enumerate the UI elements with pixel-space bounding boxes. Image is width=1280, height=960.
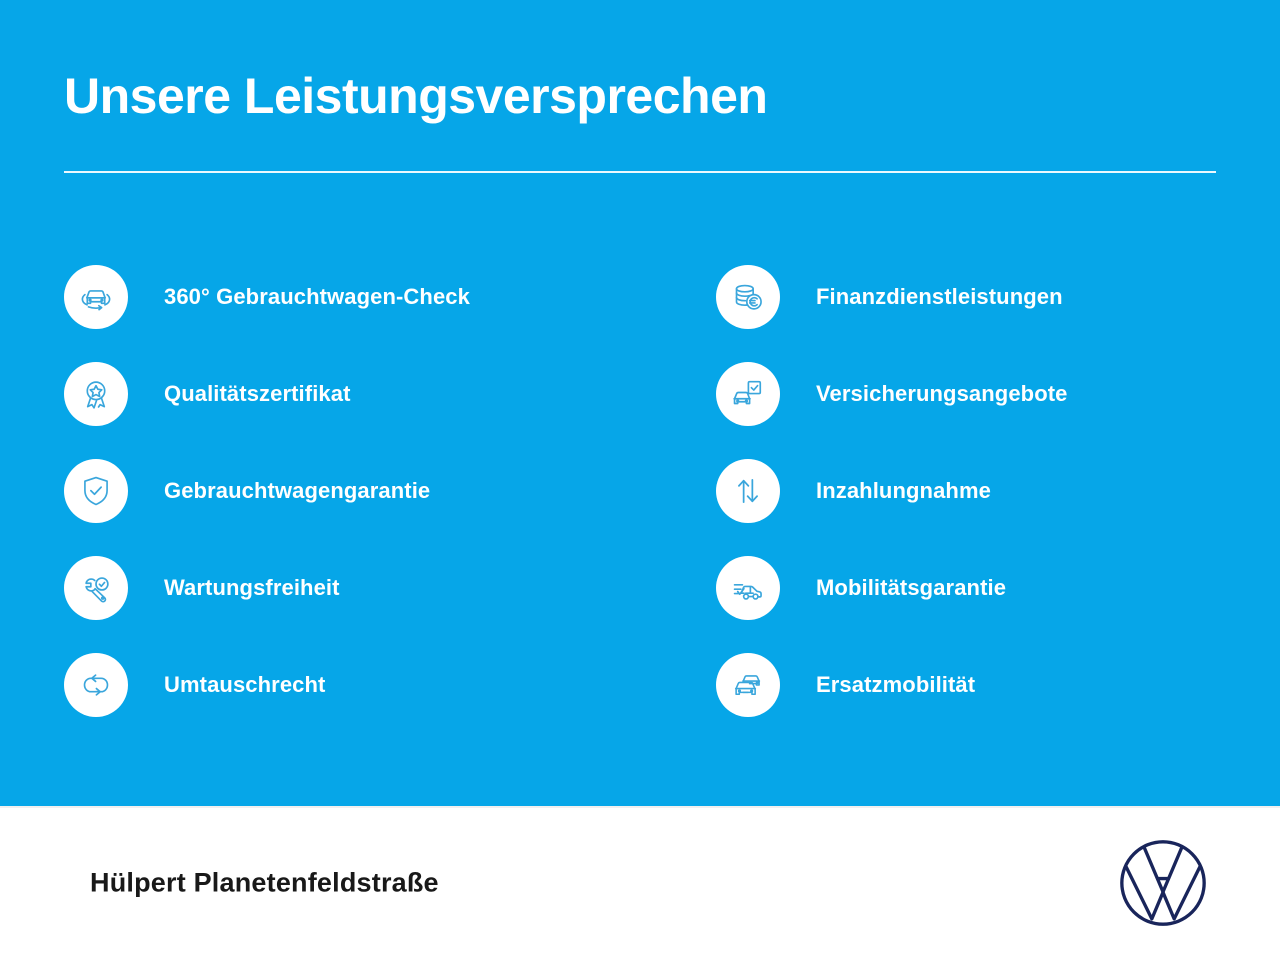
arrows-up-down-icon [716,459,780,523]
promise-page: Unsere Leistungsversprechen [0,0,1280,960]
promise-label: Versicherungsangebote [816,381,1068,407]
promise-item-versicherungsangebote[interactable]: Versicherungsangebote [716,345,1280,442]
dealer-name: Hülpert Planetenfeldstraße [90,868,439,899]
dealer-footer: Hülpert Planetenfeldstraße [0,806,1280,960]
promise-label: Finanzdienstleistungen [816,284,1063,310]
award-medal-icon [64,362,128,426]
promise-item-wartungsfreiheit[interactable]: Wartungsfreiheit [64,539,640,636]
promise-item-qualitaetszertifikat[interactable]: Qualitätszertifikat [64,345,640,442]
promise-column-right: Finanzdienstleistungen [640,248,1280,733]
promise-item-inzahlungnahme[interactable]: Inzahlungnahme [716,442,1280,539]
promise-label: Gebrauchtwagengarantie [164,478,430,504]
car-checkbox-icon [716,362,780,426]
promise-item-ersatzmobilitaet[interactable]: Ersatzmobilität [716,636,1280,733]
coins-euro-icon [716,265,780,329]
leistungsversprechen-panel: Unsere Leistungsversprechen [0,0,1280,806]
two-cars-icon [716,653,780,717]
promise-item-umtauschrecht[interactable]: Umtauschrecht [64,636,640,733]
promise-label: Qualitätszertifikat [164,381,351,407]
promise-label: Mobilitätsgarantie [816,575,1006,601]
promise-list: 360° Gebrauchtwagen-Check Qualitätszerti… [0,248,1280,733]
promise-column-left: 360° Gebrauchtwagen-Check Qualitätszerti… [0,248,640,733]
volkswagen-logo-icon [1114,834,1212,932]
promise-label: 360° Gebrauchtwagen-Check [164,284,470,310]
promise-label: Ersatzmobilität [816,672,975,698]
car-360-check-icon [64,265,128,329]
promise-item-finanzdienstleistungen[interactable]: Finanzdienstleistungen [716,248,1280,345]
promise-item-gebrauchtwagengarantie[interactable]: Gebrauchtwagengarantie [64,442,640,539]
promise-label: Inzahlungnahme [816,478,991,504]
wrench-check-icon [64,556,128,620]
promise-label: Wartungsfreiheit [164,575,340,601]
exchange-arrows-icon [64,653,128,717]
shield-check-icon [64,459,128,523]
promise-label: Umtauschrecht [164,672,325,698]
promise-item-mobilitaetsgarantie[interactable]: Mobilitätsgarantie [716,539,1280,636]
page-title: Unsere Leistungsversprechen [64,66,767,126]
car-motion-icon [716,556,780,620]
title-divider [64,171,1216,173]
promise-item-gebrauchtwagen-check[interactable]: 360° Gebrauchtwagen-Check [64,248,640,345]
